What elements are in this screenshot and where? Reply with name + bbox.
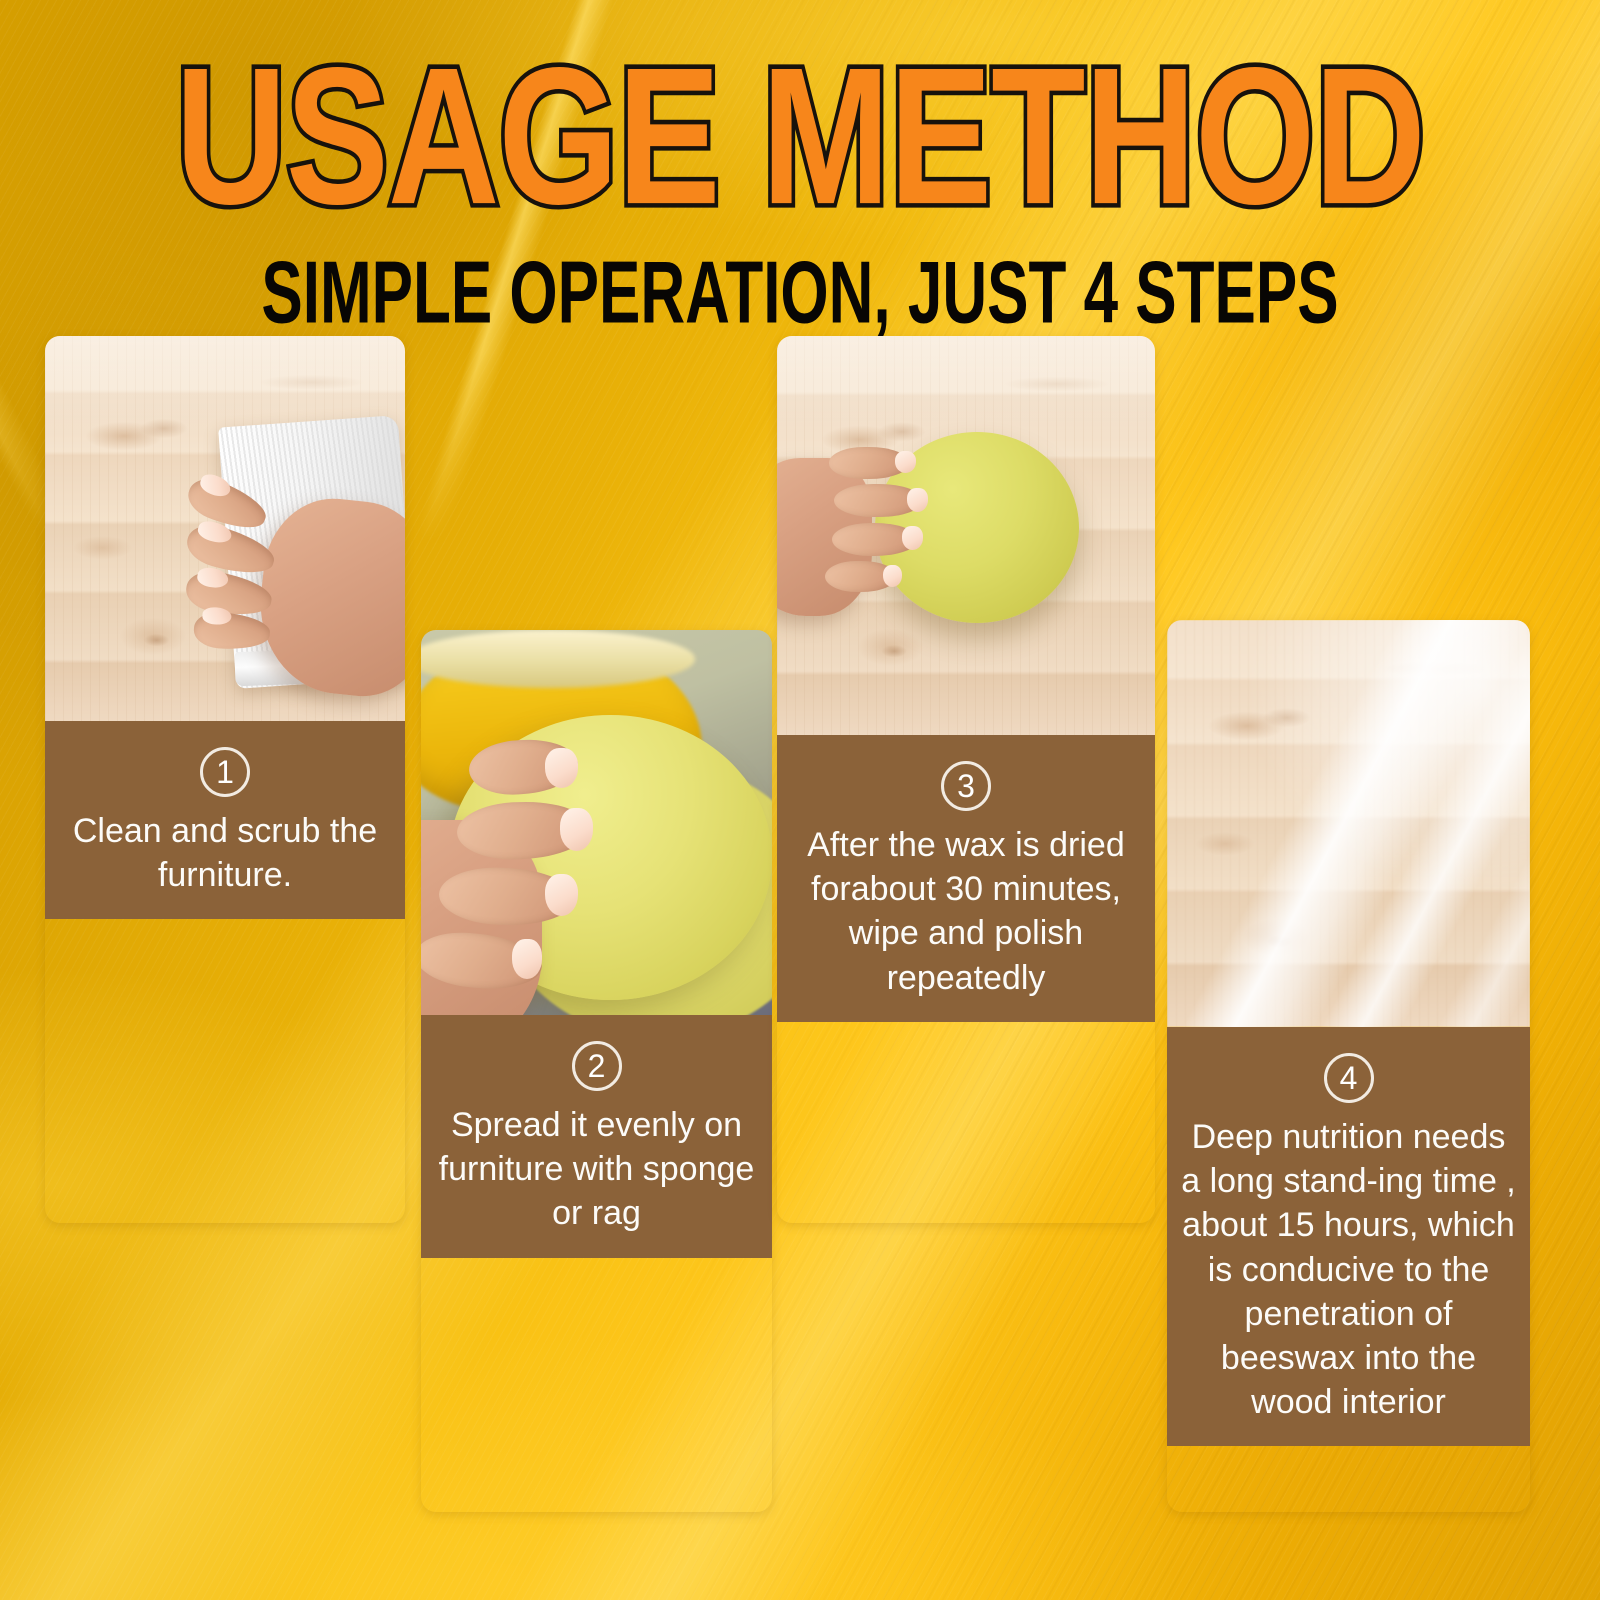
step-2-photo [421, 630, 772, 1015]
step-4-photo [1167, 620, 1530, 1027]
step-3-body: 3 After the wax is dried forabout 30 min… [777, 735, 1155, 1022]
step-card-4[interactable]: 4 Deep nutrition needs a long stand-ing … [1167, 620, 1530, 1512]
sun-glow [1167, 620, 1530, 1027]
step-number-badge: 3 [941, 761, 991, 811]
fingernail [560, 808, 593, 851]
step-number-badge: 4 [1324, 1053, 1374, 1103]
step-description: Spread it evenly on furniture with spong… [435, 1103, 758, 1236]
step-2-body: 2 Spread it evenly on furniture with spo… [421, 1015, 772, 1258]
fingernail [895, 451, 916, 473]
step-4-body: 4 Deep nutrition needs a long stand-ing … [1167, 1027, 1530, 1446]
step-3-photo [777, 336, 1155, 735]
step-1-body: 1 Clean and scrub the furniture. [45, 721, 405, 919]
fingernail [883, 565, 902, 587]
fingernail [545, 748, 578, 788]
hand [176, 417, 405, 702]
step-1-photo [45, 336, 405, 721]
hand [421, 746, 681, 1016]
hand [777, 444, 989, 628]
step-card-2[interactable]: 2 Spread it evenly on furniture with spo… [421, 630, 772, 1512]
step-number-badge: 2 [572, 1041, 622, 1091]
step-description: Deep nutrition needs a long stand-ing ti… [1181, 1115, 1516, 1424]
page-subtitle: SIMPLE OPERATION, JUST 4 STEPS [0, 250, 1600, 338]
fingernail [907, 488, 928, 512]
fingernail [512, 939, 542, 979]
wax-jar-rim [421, 630, 695, 688]
step-card-3[interactable]: 3 After the wax is dried forabout 30 min… [777, 336, 1155, 1223]
step-number-badge: 1 [200, 747, 250, 797]
palm [252, 492, 405, 703]
header: USAGE METHOD SIMPLE OPERATION, JUST 4 ST… [0, 0, 1600, 312]
step-description: After the wax is dried forabout 30 minut… [791, 823, 1141, 1000]
infographic-canvas: USAGE METHOD SIMPLE OPERATION, JUST 4 ST… [0, 0, 1600, 1600]
step-description: Clean and scrub the furniture. [59, 809, 391, 897]
fingernail [545, 874, 578, 917]
step-card-1[interactable]: 1 Clean and scrub the furniture. [45, 336, 405, 1223]
fingernail [902, 526, 923, 550]
page-title: USAGE METHOD [0, 38, 1600, 233]
